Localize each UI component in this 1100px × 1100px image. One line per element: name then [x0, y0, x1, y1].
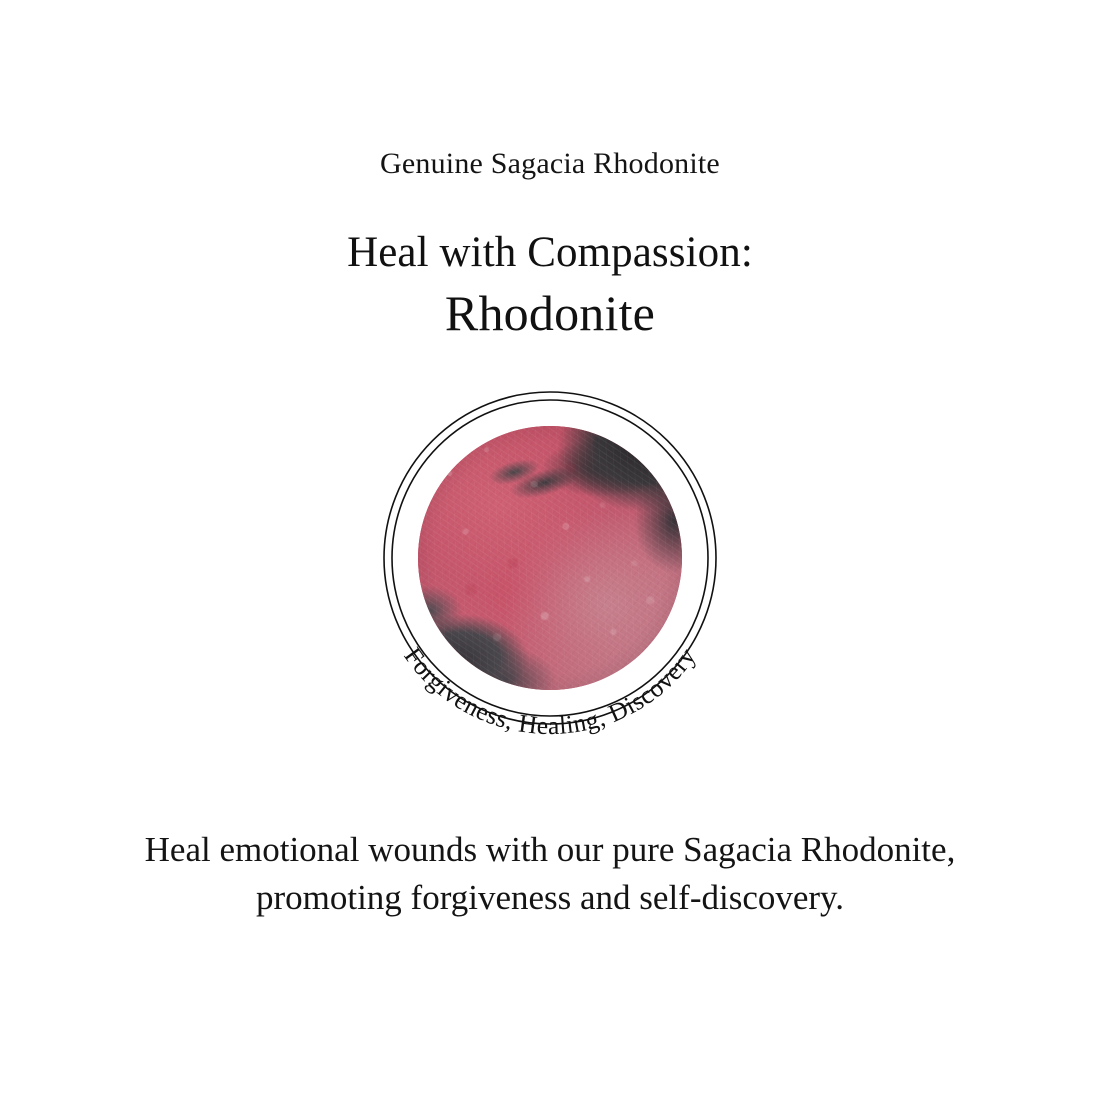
- headline-line-2: Rhodonite: [0, 283, 1100, 343]
- description-line-1: Heal emotional wounds with our pure Saga…: [40, 826, 1060, 874]
- seal-curved-caption-text: Forgiveness, Healing, Discovery: [398, 642, 701, 740]
- page-title: Heal with Compassion: Rhodonite: [0, 228, 1100, 343]
- brand-eyebrow: Genuine Sagacia Rhodonite: [0, 147, 1100, 181]
- product-card: Genuine Sagacia Rhodonite Heal with Comp…: [0, 0, 1100, 1100]
- description-line-2: promoting forgiveness and self-discovery…: [40, 874, 1060, 922]
- headline-line-1: Heal with Compassion:: [0, 228, 1100, 279]
- seal-curved-caption: Forgiveness, Healing, Discovery: [398, 642, 701, 740]
- seal-rings-and-text: Forgiveness, Healing, Discovery: [350, 358, 750, 758]
- product-description: Heal emotional wounds with our pure Saga…: [0, 826, 1100, 923]
